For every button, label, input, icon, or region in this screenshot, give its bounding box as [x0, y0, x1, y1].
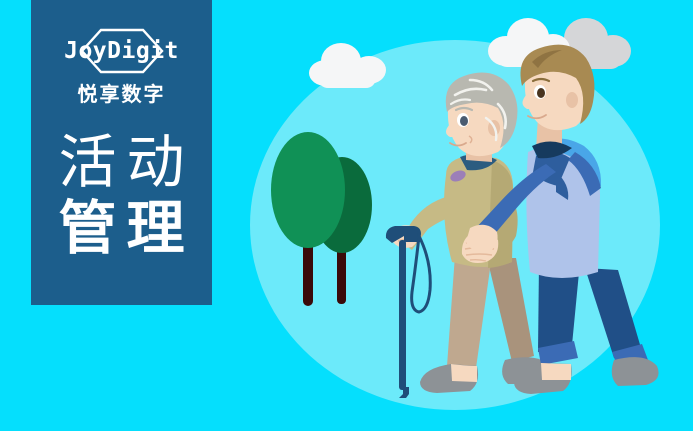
title-line-1: 活动: [48, 129, 194, 195]
brand-panel: JoyDigit 悦享数字 活动 管理: [31, 0, 212, 305]
poster-canvas: JoyDigit 悦享数字 活动 管理: [0, 0, 693, 431]
title-line-2: 管理: [48, 195, 194, 261]
page-title: 活动 管理: [48, 129, 194, 261]
sub-brand-text: 悦享数字: [78, 78, 166, 107]
logo-wordmark: JoyDigit: [64, 28, 179, 74]
logo: JoyDigit: [52, 28, 192, 74]
